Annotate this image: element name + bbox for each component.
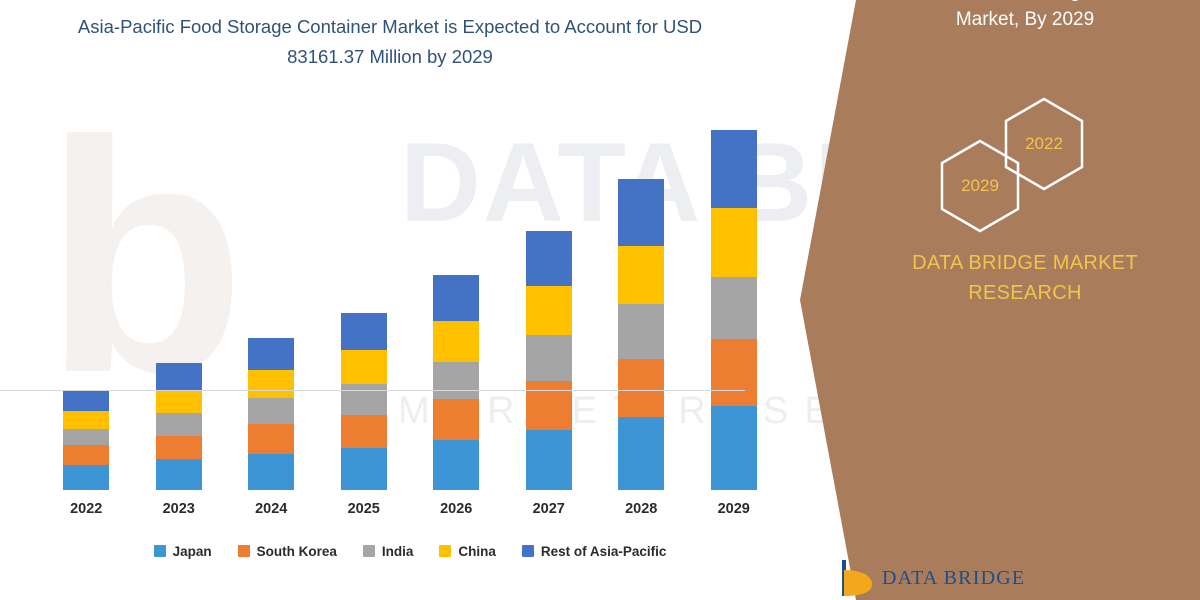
bar-segment xyxy=(618,359,664,418)
bar-segment xyxy=(156,413,202,435)
legend-item[interactable]: Rest of Asia-Pacific xyxy=(522,544,667,559)
bar-segment xyxy=(711,208,757,276)
bar-segment xyxy=(341,350,387,383)
legend-item[interactable]: India xyxy=(363,544,414,559)
legend-swatch xyxy=(238,545,250,557)
logo-mark-icon xyxy=(840,558,874,598)
bar-segment xyxy=(618,417,664,490)
legend-label: South Korea xyxy=(257,544,337,559)
stacked-bar-group xyxy=(40,100,780,490)
x-axis-tick-label: 2025 xyxy=(328,501,400,517)
legend-label: Japan xyxy=(173,544,212,559)
bar-segment xyxy=(526,430,572,490)
bar-segment xyxy=(248,338,294,370)
x-axis-tick-label: 2023 xyxy=(143,501,215,517)
legend-item[interactable]: Japan xyxy=(154,544,212,559)
x-axis-tick-label: 2024 xyxy=(235,501,307,517)
bar-column xyxy=(711,130,757,490)
bar-segment xyxy=(433,399,479,439)
panel-title: Asia-Pacific Food Storage Container Mark… xyxy=(860,0,1190,34)
bar-segment xyxy=(341,415,387,448)
bar-column xyxy=(156,363,202,490)
chart-title: Asia-Pacific Food Storage Container Mark… xyxy=(60,12,720,72)
bar-segment xyxy=(63,429,109,446)
legend-item[interactable]: China xyxy=(439,544,496,559)
bar-segment xyxy=(341,313,387,351)
x-axis-tick-label: 2027 xyxy=(513,501,585,517)
bar-column xyxy=(63,390,109,490)
bar-segment xyxy=(711,277,757,340)
bar-segment xyxy=(156,390,202,414)
bar-column xyxy=(341,313,387,490)
legend-label: China xyxy=(458,544,496,559)
chart-infographic: b DATA BRIDGE MARKET RESEARCH Asia-Pacif… xyxy=(0,0,1200,600)
bar-segment xyxy=(63,465,109,490)
bar-segment xyxy=(156,363,202,390)
bar-segment xyxy=(526,231,572,287)
legend-swatch xyxy=(439,545,451,557)
bar-segment xyxy=(526,286,572,335)
bar-segment xyxy=(156,459,202,490)
legend-swatch xyxy=(522,545,534,557)
bar-segment xyxy=(156,436,202,460)
bar-segment xyxy=(248,454,294,490)
bar-segment xyxy=(618,246,664,305)
bar-segment xyxy=(341,384,387,415)
bar-column xyxy=(618,179,664,490)
bar-segment xyxy=(63,411,109,429)
bar-segment xyxy=(248,424,294,453)
bar-segment xyxy=(433,362,479,400)
legend-label: India xyxy=(382,544,414,559)
bar-column xyxy=(433,275,479,490)
bar-segment xyxy=(433,275,479,321)
legend-swatch xyxy=(363,545,375,557)
x-axis-tick-label: 2026 xyxy=(420,501,492,517)
bar-segment xyxy=(433,440,479,490)
chart-legend: JapanSouth KoreaIndiaChinaRest of Asia-P… xyxy=(40,538,780,564)
bar-segment xyxy=(63,445,109,465)
right-brand-panel: Asia-Pacific Food Storage Container Mark… xyxy=(800,0,1200,600)
bar-segment xyxy=(711,130,757,208)
legend-label: Rest of Asia-Pacific xyxy=(541,544,667,559)
data-bridge-logo: DATA BRIDGE xyxy=(840,558,1025,598)
hexagon-badges: 2029 2022 xyxy=(930,96,1170,216)
bar-segment xyxy=(711,339,757,406)
chart-plot-area xyxy=(40,100,780,490)
bar-segment xyxy=(248,398,294,425)
x-axis-tick-label: 2028 xyxy=(605,501,677,517)
bar-segment xyxy=(526,381,572,430)
bar-segment xyxy=(63,390,109,411)
hexagon-2022: 2022 xyxy=(1002,96,1086,192)
legend-swatch xyxy=(154,545,166,557)
bar-segment xyxy=(248,370,294,398)
x-axis-tick-label: 2029 xyxy=(698,501,770,517)
logo-text: DATA BRIDGE xyxy=(882,567,1025,590)
x-axis-line xyxy=(0,390,745,391)
bar-segment xyxy=(618,304,664,358)
bar-segment xyxy=(433,321,479,361)
bar-segment xyxy=(618,179,664,246)
bar-segment xyxy=(526,335,572,381)
x-axis-tick-label: 2022 xyxy=(50,501,122,517)
hexagon-2022-label: 2022 xyxy=(1025,134,1063,154)
bar-segment xyxy=(711,406,757,490)
bar-column xyxy=(526,231,572,491)
x-axis-tick-labels: 20222023202420252026202720282029 xyxy=(40,498,780,520)
legend-item[interactable]: South Korea xyxy=(238,544,337,559)
panel-brand-text: DATA BRIDGE MARKET RESEARCH xyxy=(860,248,1190,308)
hexagon-2029-label: 2029 xyxy=(961,176,999,196)
bar-segment xyxy=(341,448,387,490)
bar-column xyxy=(248,338,294,490)
